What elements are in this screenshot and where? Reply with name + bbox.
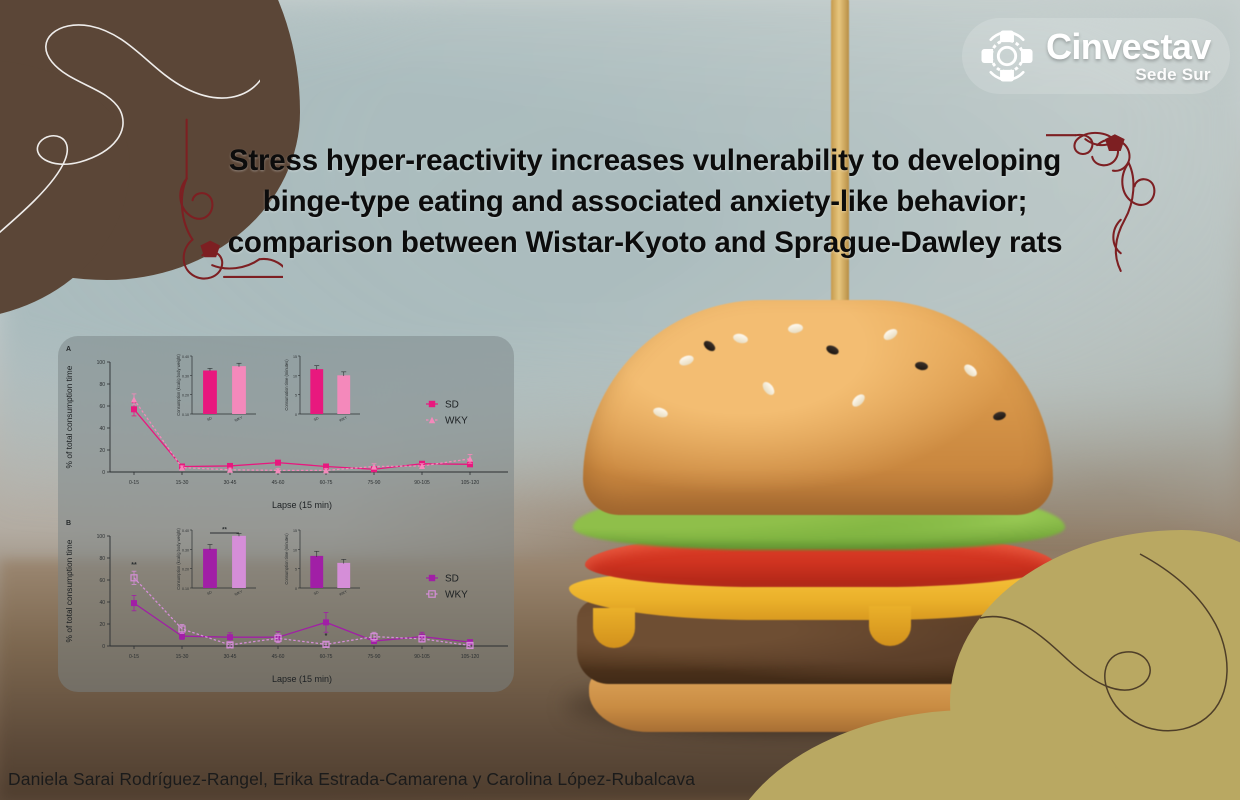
svg-text:75-90: 75-90 [368,480,381,486]
svg-text:5: 5 [295,568,297,572]
cinvestav-logo: Cinvestav Sede Sur [962,18,1230,94]
poster-title: Stress hyper-reactivity increases vulner… [180,140,1110,263]
svg-text:WKY: WKY [339,589,349,597]
panel-b-tag: B [66,520,71,527]
svg-text:SD: SD [313,590,320,596]
svg-text:20: 20 [99,448,105,454]
svg-text:0.40: 0.40 [182,355,189,359]
svg-text:SD: SD [313,416,320,422]
panel-b-chart: 020406080100% of total consumption time0… [58,514,514,690]
svg-text:0: 0 [102,644,105,650]
svg-text:0.30: 0.30 [182,548,189,552]
logo-subtitle: Sede Sur [1046,66,1211,83]
svg-text:Consumption (kcal/g body weigh: Consumption (kcal/g body weight) [176,528,181,590]
svg-text:75-90: 75-90 [368,654,381,660]
sesame-seed [882,327,899,343]
svg-text:0: 0 [295,413,297,417]
panel-a-chart: 020406080100% of total consumption time0… [58,340,514,516]
sesame-seed [702,339,717,353]
svg-text:60: 60 [99,404,105,410]
svg-text:30-45: 30-45 [224,654,237,660]
svg-text:10: 10 [293,548,297,552]
cinvestav-gear-icon [978,27,1036,85]
svg-text:10: 10 [293,374,297,378]
svg-text:SD: SD [445,400,459,411]
svg-text:0-15: 0-15 [129,654,139,660]
sesame-seed [992,410,1007,421]
sesame-seed [850,392,867,409]
svg-text:100: 100 [97,360,106,366]
svg-text:20: 20 [99,622,105,628]
svg-text:90-105: 90-105 [414,480,430,486]
svg-text:Lapse (15 min): Lapse (15 min) [272,674,332,684]
figure-card: A 020406080100% of total consumption tim… [58,336,514,692]
svg-text:80: 80 [99,382,105,388]
sesame-seed [652,406,669,419]
svg-text:Consumption time (minutes): Consumption time (minutes) [284,533,289,585]
figure-panel-a: A 020406080100% of total consumption tim… [58,340,514,516]
svg-text:15: 15 [293,355,297,359]
sesame-seed [760,380,776,397]
logo-text-block: Cinvestav Sede Sur [1046,29,1211,83]
svg-text:60-75: 60-75 [320,480,333,486]
svg-text:0-15: 0-15 [129,480,139,486]
svg-text:45-60: 45-60 [272,480,285,486]
bun-top [583,300,1053,515]
svg-text:5: 5 [295,394,297,398]
svg-text:0.40: 0.40 [182,529,189,533]
authors-line: Daniela Sarai Rodríguez-Rangel, Erika Es… [8,769,695,790]
sesame-seed [678,354,695,368]
cheese-drip [593,608,635,648]
panel-a-tag: A [66,346,71,353]
svg-text:0.20: 0.20 [182,568,189,572]
svg-text:105-120: 105-120 [461,654,480,660]
svg-text:30-45: 30-45 [224,480,237,486]
svg-text:WKY: WKY [445,590,468,601]
sesame-seed [787,323,803,334]
svg-text:0.10: 0.10 [182,587,189,591]
svg-text:SD: SD [445,574,459,585]
svg-text:60-75: 60-75 [320,654,333,660]
svg-text:0.10: 0.10 [182,413,189,417]
svg-text:45-60: 45-60 [272,654,285,660]
sesame-seed [962,362,979,379]
svg-text:**: ** [131,562,137,569]
title-line-3: comparison between Wistar-Kyoto and Spra… [180,222,1110,263]
svg-text:0.30: 0.30 [182,374,189,378]
svg-text:90-105: 90-105 [414,654,430,660]
svg-text:*: * [325,633,328,640]
svg-text:40: 40 [99,426,105,432]
svg-text:100: 100 [97,534,106,540]
svg-text:15-30: 15-30 [176,480,189,486]
logo-name: Cinvestav [1046,29,1211,65]
svg-text:Consumation time (minutes): Consumation time (minutes) [284,359,289,411]
svg-text:60: 60 [99,578,105,584]
figure-panel-b: B 020406080100% of total consumption tim… [58,514,514,690]
svg-text:WKY: WKY [234,589,244,597]
svg-text:SD: SD [206,590,213,596]
svg-text:0: 0 [102,470,105,476]
svg-text:15: 15 [293,529,297,533]
svg-text:Lapse (15 min): Lapse (15 min) [272,500,332,510]
svg-text:0: 0 [295,587,297,591]
cheese-drip [869,606,911,646]
svg-text:WKY: WKY [234,415,244,423]
svg-text:105-120: 105-120 [461,480,480,486]
svg-text:SD: SD [206,416,213,422]
svg-text:**: ** [222,528,227,534]
svg-text:% of total consumption time: % of total consumption time [64,365,74,468]
sesame-seed [732,332,749,344]
svg-text:% of total consumption time: % of total consumption time [64,539,74,642]
title-line-1: Stress hyper-reactivity increases vulner… [180,140,1110,181]
svg-text:80: 80 [99,556,105,562]
svg-text:15-30: 15-30 [176,654,189,660]
svg-text:WKY: WKY [339,415,349,423]
title-line-2: binge-type eating and associated anxiety… [180,181,1110,222]
svg-text:Consumption (kcal/g body weigh: Consumption (kcal/g body weight) [176,354,181,416]
poster-canvas: Cinvestav Sede Sur Stress hyper-reactivi… [0,0,1240,800]
sesame-seed [825,344,840,357]
svg-text:WKY: WKY [445,416,468,427]
sesame-seed [914,361,928,371]
svg-text:40: 40 [99,600,105,606]
svg-text:0.20: 0.20 [182,394,189,398]
